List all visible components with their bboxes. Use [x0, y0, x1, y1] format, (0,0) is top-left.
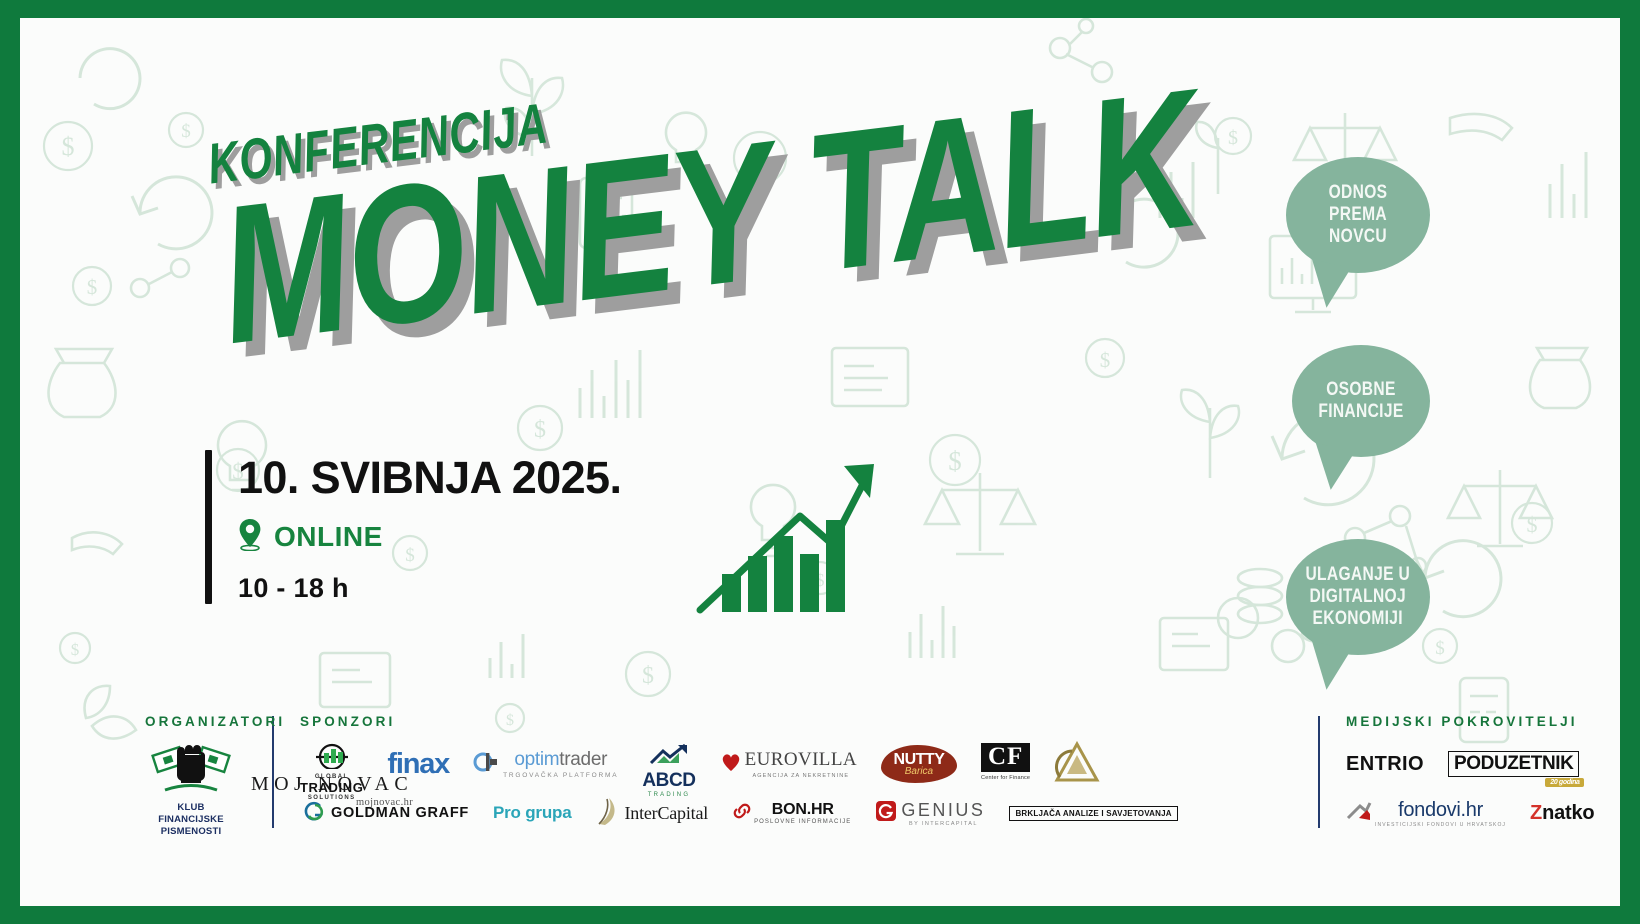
ic-swoosh-icon	[595, 796, 621, 831]
logo-nutty-barica: NUTTY Barica	[881, 743, 957, 785]
sponsors-row-1: GLOBAL TRADING SOLUTIONS finax	[300, 743, 1318, 785]
svg-text:$: $	[1435, 638, 1445, 659]
optimtrader-sub: TRGOVAČKA PLATFORMA	[503, 772, 618, 779]
event-location: ONLINE	[274, 521, 383, 553]
logo-finax: finax	[387, 743, 449, 785]
logo-eurovilla: EUROVILLA AGENCIJA ZA NEKRETNINE	[720, 743, 857, 785]
fist-money-icon	[151, 743, 231, 798]
media-row-2: fondovi.hr INVESTICIJSKI FONDOVI U HRVAT…	[1346, 792, 1620, 834]
logo-znatko: Znatko	[1530, 792, 1594, 834]
logo-poduzetnik: PODUZETNIK 20 godina	[1448, 743, 1580, 785]
organizers-logos: KLUB FINANCIJSKE PISMENOSTI MOJ NOVAC mo…	[145, 743, 272, 838]
optim-mark-icon	[473, 749, 499, 780]
topic-bubble-label: ODNOS PREMA NOVCU	[1299, 182, 1417, 248]
fondovi-wordmark: fondovi.hr	[1398, 799, 1483, 822]
bon-hr-sub: POSLOVNE INFORMACIJE	[754, 819, 851, 825]
logo-global-trading-solutions: GLOBAL TRADING SOLUTIONS	[300, 743, 363, 785]
poduzetnik-badge: 20 godina	[1545, 778, 1584, 787]
logo-pro-grupa: Pro grupa	[493, 792, 572, 834]
svg-text:$: $	[87, 275, 98, 299]
topic-bubble-osobne-financije: OSOBNE FINANCIJE	[1292, 345, 1430, 457]
logo-partner-triangle	[1054, 743, 1100, 785]
media-partners-section: MEDIJSKI POKROVITELJI ENTRIO PODUZETNIK …	[1320, 714, 1620, 832]
genius-wordmark: GENIUS	[901, 800, 985, 821]
znatko-wordmark: Znatko	[1530, 802, 1594, 825]
logo-klub-financijske-pismenosti: KLUB FINANCIJSKE PISMENOSTI	[145, 743, 237, 838]
gold-triangle-icon	[1054, 741, 1100, 788]
logo-entrio: ENTRIO	[1346, 743, 1424, 785]
topic-bubble-ulaganje-digitalna-ekonomija: ULAGANJE U DIGITALNOJ EKONOMIJI	[1286, 539, 1430, 655]
organizers-heading: ORGANIZATORI	[145, 714, 272, 729]
genius-sub: BY INTERCAPITAL	[909, 821, 978, 827]
svg-text:$: $	[642, 663, 654, 689]
logo-goldman-graff: GOLDMAN GRAFF	[300, 792, 469, 834]
nutty-blob-icon: NUTTY Barica	[881, 745, 957, 783]
footer-partners: ORGANIZATORI	[20, 714, 1620, 864]
growth-bar-chart-arrow-icon	[692, 458, 882, 623]
logo-intercapital: InterCapital	[595, 792, 708, 834]
heart-icon	[720, 751, 742, 778]
svg-text:$: $	[534, 417, 546, 443]
logo-genius: GENIUS BY INTERCAPITAL	[875, 792, 985, 834]
event-details: 10. SVIBNJA 2025. ONLINE 10 - 18 h	[205, 450, 621, 604]
eurovilla-wordmark: EUROVILLA	[745, 749, 857, 771]
svg-text:$: $	[1100, 348, 1111, 372]
organizers-section: ORGANIZATORI	[20, 714, 272, 832]
eurovilla-sub: AGENCIJA ZA NEKRETNINE	[752, 773, 849, 779]
media-partners-heading: MEDIJSKI POKROVITELJI	[1346, 714, 1620, 729]
event-location-row: ONLINE	[238, 518, 621, 556]
poster-root: $ $ $ $ $ $ $ $ $ $ $ $ $ $ $ $	[0, 0, 1640, 924]
logo-center-for-finance: CF Center for Finance	[981, 743, 1030, 785]
media-row-1: ENTRIO PODUZETNIK 20 godina	[1346, 743, 1620, 785]
topic-bubble-label: OSOBNE FINANCIJE	[1313, 379, 1408, 423]
svg-text:$: $	[62, 132, 75, 161]
logo-brkljaca-analize: BRKLJAČA ANALIZE I SAVJETOVANJA	[1009, 792, 1177, 834]
poster-canvas: $ $ $ $ $ $ $ $ $ $ $ $ $ $ $ $	[20, 18, 1620, 906]
sponsors-row-2: GOLDMAN GRAFF Pro grupa InterCapital	[300, 792, 1318, 834]
topic-bubble-odnos-prema-novcu: ODNOS PREMA NOVCU	[1286, 157, 1430, 273]
sponsors-section: SPONZORI GLOBAL	[274, 714, 1318, 832]
bon-hr-wordmark: BON.HR	[772, 801, 834, 819]
g-mark-icon	[875, 800, 897, 827]
cf-monogram: CF	[981, 743, 1030, 772]
event-date: 10. SVIBNJA 2025.	[238, 454, 621, 501]
brkljaca-wordmark: BRKLJAČA ANALIZE I SAVJETOVANJA	[1009, 806, 1177, 821]
chart-arrow-icon	[648, 743, 690, 770]
arrow-mark-icon	[1346, 800, 1372, 827]
globe-bars-icon	[310, 743, 354, 774]
svg-text:$: $	[181, 121, 191, 142]
bubble-tail	[1301, 641, 1350, 693]
map-pin-icon	[238, 518, 262, 556]
svg-text:$: $	[1527, 512, 1538, 537]
svg-text:$: $	[948, 446, 962, 476]
sponsors-heading: SPONZORI	[300, 714, 1318, 729]
pro-grupa-wordmark: Pro grupa	[493, 803, 572, 823]
sponsors-logo-grid: GLOBAL TRADING SOLUTIONS finax	[300, 743, 1318, 834]
optimtrader-wordmark: optimtrader	[514, 749, 607, 771]
fondovi-sub: INVESTICIJSKI FONDOVI U HRVATSKOJ	[1375, 822, 1506, 828]
organizer-caption: KLUB FINANCIJSKE PISMENOSTI	[145, 802, 237, 838]
poster-title-block: KONFERENCIJA MONEY TALK	[205, 18, 1481, 361]
abcd-wordmark: ABCD	[642, 770, 695, 792]
logo-abcd-trading: ABCD TRADING	[642, 743, 695, 785]
entrio-wordmark: ENTRIO	[1346, 753, 1424, 776]
logo-bon-hr: BON.HR POSLOVNE INFORMACIJE	[732, 792, 851, 834]
gg-monogram-icon	[300, 798, 326, 829]
media-logo-grid: ENTRIO PODUZETNIK 20 godina	[1346, 743, 1620, 834]
link-icon	[732, 801, 752, 826]
nutty-sub: Barica	[905, 767, 933, 777]
finax-wordmark: finax	[387, 748, 449, 781]
cf-sub: Center for Finance	[981, 775, 1030, 781]
details-accent-bar	[205, 450, 212, 604]
event-time: 10 - 18 h	[238, 573, 621, 604]
svg-text:$: $	[71, 640, 80, 659]
poduzetnik-wordmark: PODUZETNIK 20 godina	[1448, 751, 1580, 777]
topic-bubble-label: ULAGANJE U DIGITALNOJ EKONOMIJI	[1301, 564, 1415, 630]
intercapital-wordmark: InterCapital	[624, 803, 708, 824]
goldman-graff-wordmark: GOLDMAN GRAFF	[331, 805, 469, 821]
details-text: 10. SVIBNJA 2025. ONLINE 10 - 18 h	[238, 450, 621, 604]
logo-fondovi-hr: fondovi.hr INVESTICIJSKI FONDOVI U HRVAT…	[1346, 792, 1506, 834]
bubble-tail	[1301, 259, 1350, 311]
logo-optimtrader: optimtrader TRGOVAČKA PLATFORMA	[473, 743, 618, 785]
bubble-tail	[1306, 443, 1355, 493]
